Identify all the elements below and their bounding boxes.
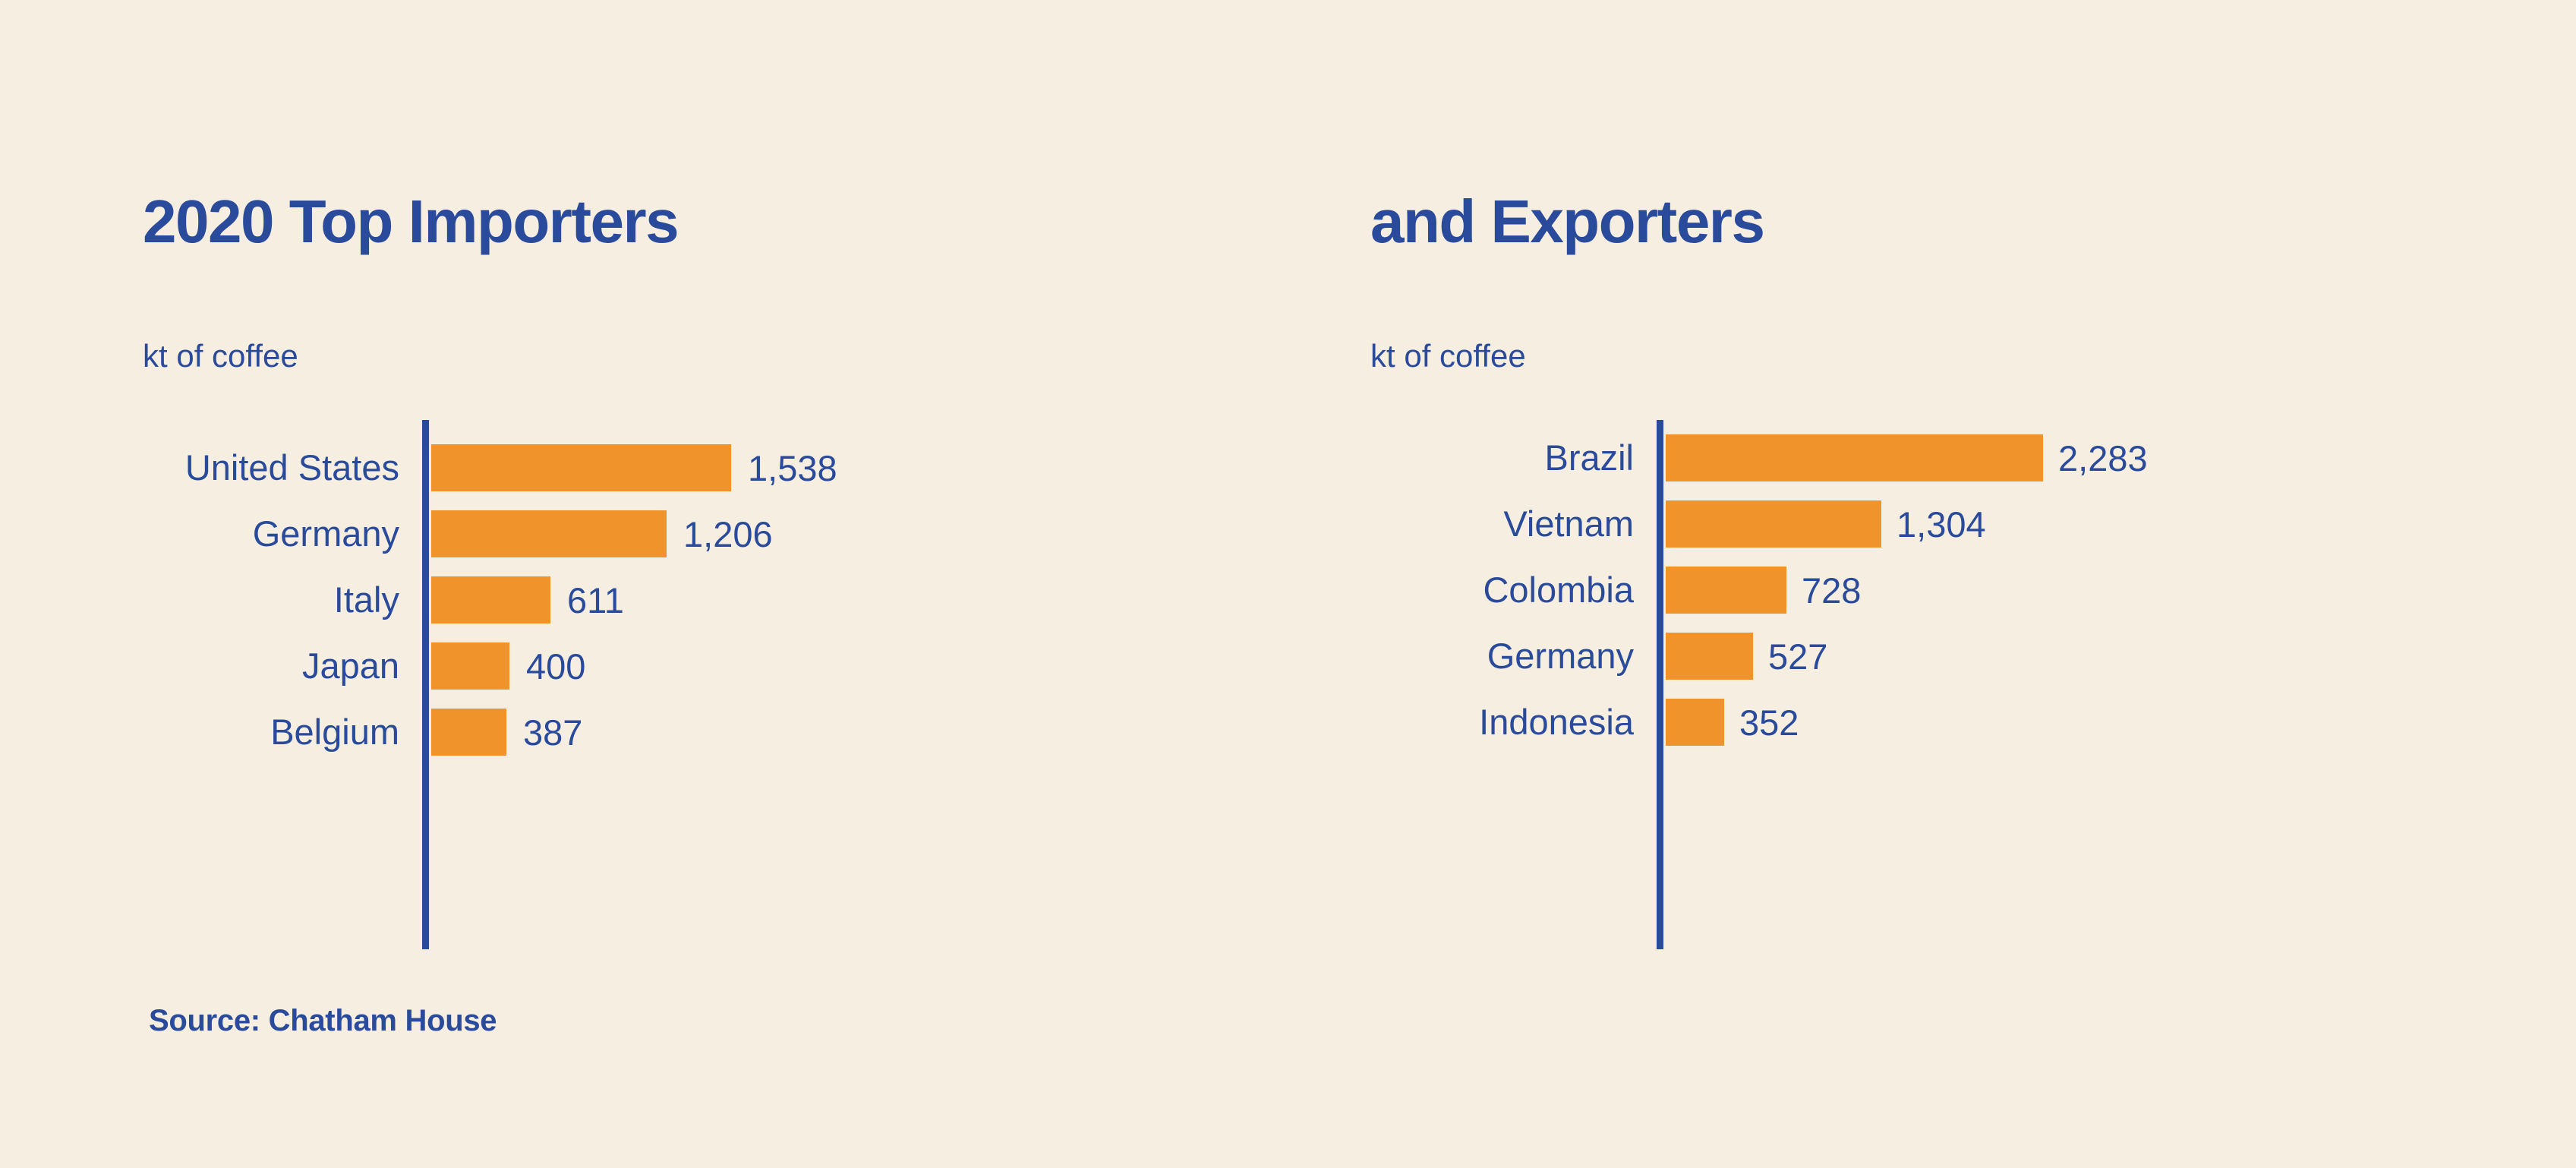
importers-value-label-4: 387 <box>523 709 582 756</box>
table-row: Indonesia 352 <box>1336 690 2576 756</box>
table-row: Germany 1,206 <box>0 502 1336 568</box>
importers-bar-2[interactable] <box>431 576 550 623</box>
importers-value-label-1: 1,206 <box>683 510 773 557</box>
exporters-category-label-2: Colombia <box>1336 567 1634 614</box>
table-row: Germany 527 <box>1336 624 2576 690</box>
exporters-category-label-1: Vietnam <box>1336 500 1634 548</box>
exporters-category-label-0: Brazil <box>1336 434 1634 481</box>
exporters-bar-3[interactable] <box>1666 633 1753 680</box>
importers-category-label-0: United States <box>0 444 399 491</box>
exporters-value-label-2: 728 <box>1802 567 1861 614</box>
table-row: United States 1,538 <box>0 436 1336 502</box>
source-note: Source: Chatham House <box>149 1004 497 1038</box>
infographic-canvas: 2020 Top Importers kt of coffee United S… <box>0 0 2576 1168</box>
importers-value-label-3: 400 <box>526 642 585 690</box>
exporters-bar-4[interactable] <box>1666 699 1724 746</box>
exporters-category-label-4: Indonesia <box>1336 699 1634 746</box>
table-row: Belgium 387 <box>0 700 1336 766</box>
exporters-value-label-4: 352 <box>1739 699 1799 746</box>
exporters-panel: and Exporters kt of coffee Brazil 2,283 … <box>1336 0 2576 1168</box>
table-row: Italy 611 <box>0 568 1336 634</box>
table-row: Brazil 2,283 <box>1336 426 2576 492</box>
importers-value-label-2: 611 <box>567 576 624 623</box>
importers-bar-4[interactable] <box>431 709 506 756</box>
exporters-value-label-0: 2,283 <box>2058 434 2148 481</box>
importers-panel: 2020 Top Importers kt of coffee United S… <box>0 0 1336 1168</box>
importers-bar-3[interactable] <box>431 642 509 690</box>
exporters-plot-area: Brazil 2,283 Vietnam 1,304 Colombia <box>1336 0 2576 1168</box>
importers-value-label-0: 1,538 <box>748 444 837 491</box>
importers-category-label-4: Belgium <box>0 709 399 756</box>
importers-category-label-3: Japan <box>0 642 399 690</box>
exporters-bar-0[interactable] <box>1666 434 2043 481</box>
exporters-value-label-1: 1,304 <box>1897 500 1986 548</box>
importers-category-label-2: Italy <box>0 576 399 623</box>
exporters-bar-2[interactable] <box>1666 567 1786 614</box>
importers-category-label-1: Germany <box>0 510 399 557</box>
exporters-category-label-3: Germany <box>1336 633 1634 680</box>
table-row: Colombia 728 <box>1336 558 2576 624</box>
importers-plot-area: United States 1,538 Germany 1,206 Italy <box>0 0 1336 1168</box>
table-row: Japan 400 <box>0 634 1336 700</box>
exporters-value-label-3: 527 <box>1768 633 1827 680</box>
table-row: Vietnam 1,304 <box>1336 492 2576 558</box>
importers-bar-1[interactable] <box>431 510 667 557</box>
importers-bar-0[interactable] <box>431 444 731 491</box>
exporters-bar-1[interactable] <box>1666 500 1881 548</box>
